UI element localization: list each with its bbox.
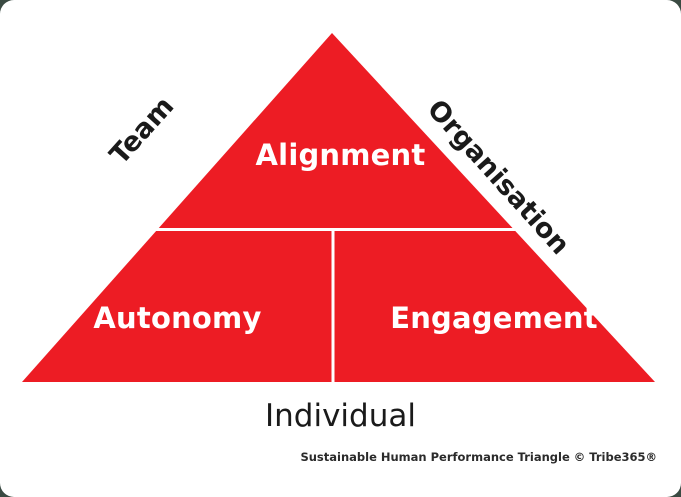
segment-label-engagement: Engagement <box>333 301 655 335</box>
segment-label-alignment: Alignment <box>0 138 681 172</box>
diagram-caption: Sustainable Human Performance Triangle ©… <box>300 450 657 464</box>
side-label-individual: Individual <box>0 398 681 434</box>
diagram-card: Alignment Autonomy Engagement Team Organ… <box>0 0 681 497</box>
segment-label-autonomy: Autonomy <box>22 301 333 335</box>
